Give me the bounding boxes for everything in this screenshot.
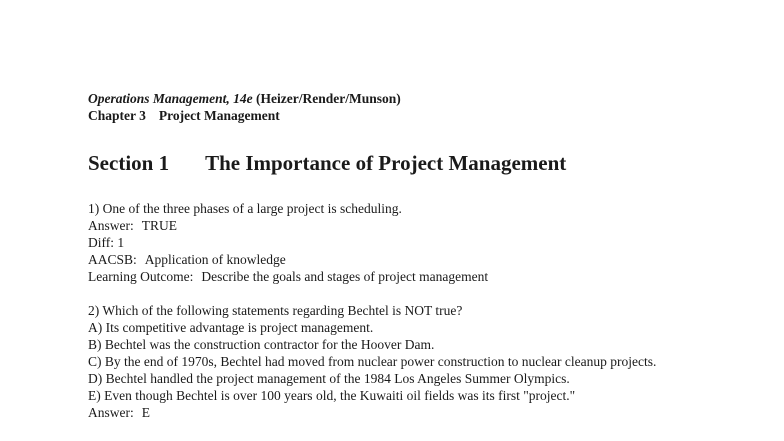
learning-outcome-label: Learning Outcome:	[88, 269, 193, 284]
book-header-line: Operations Management, 14e (Heizer/Rende…	[88, 90, 748, 107]
answer-value: E	[142, 405, 150, 420]
answer-value: TRUE	[142, 218, 177, 233]
section-title: The Importance of Project Management	[169, 151, 566, 175]
question-stem: 2) Which of the following statements reg…	[88, 302, 748, 319]
book-title: Operations Management, 14e	[88, 91, 253, 106]
question-block: 2) Which of the following statements reg…	[88, 302, 748, 421]
section-label: Section 1	[88, 151, 169, 175]
book-authors: (Heizer/Render/Munson)	[256, 91, 401, 106]
aacsb-label: AACSB:	[88, 252, 137, 267]
option-e: E) Even though Bechtel is over 100 years…	[88, 387, 748, 404]
aacsb-line: AACSB:Application of knowledge	[88, 251, 748, 268]
section-heading: Section 1The Importance of Project Manag…	[88, 150, 748, 176]
question-stem: 1) One of the three phases of a large pr…	[88, 200, 748, 217]
difficulty-line: Diff: 1	[88, 234, 748, 251]
answer-label: Answer:	[88, 218, 134, 233]
learning-outcome-value: Describe the goals and stages of project…	[201, 269, 488, 284]
answer-line: Answer:TRUE	[88, 217, 748, 234]
chapter-label: Chapter 3	[88, 108, 146, 123]
document-page: Operations Management, 14e (Heizer/Rende…	[0, 0, 784, 441]
learning-outcome-line: Learning Outcome:Describe the goals and …	[88, 268, 748, 285]
page-content: Operations Management, 14e (Heizer/Rende…	[88, 90, 748, 421]
chapter-header-line: Chapter 3Project Management	[88, 107, 748, 124]
option-d: D) Bechtel handled the project managemen…	[88, 370, 748, 387]
option-b: B) Bechtel was the construction contract…	[88, 336, 748, 353]
option-a: A) Its competitive advantage is project …	[88, 319, 748, 336]
question-block: 1) One of the three phases of a large pr…	[88, 200, 748, 285]
answer-label: Answer:	[88, 405, 134, 420]
chapter-title: Project Management	[146, 108, 280, 123]
option-c: C) By the end of 1970s, Bechtel had move…	[88, 353, 728, 370]
answer-line: Answer:E	[88, 404, 748, 421]
aacsb-value: Application of knowledge	[145, 252, 286, 267]
